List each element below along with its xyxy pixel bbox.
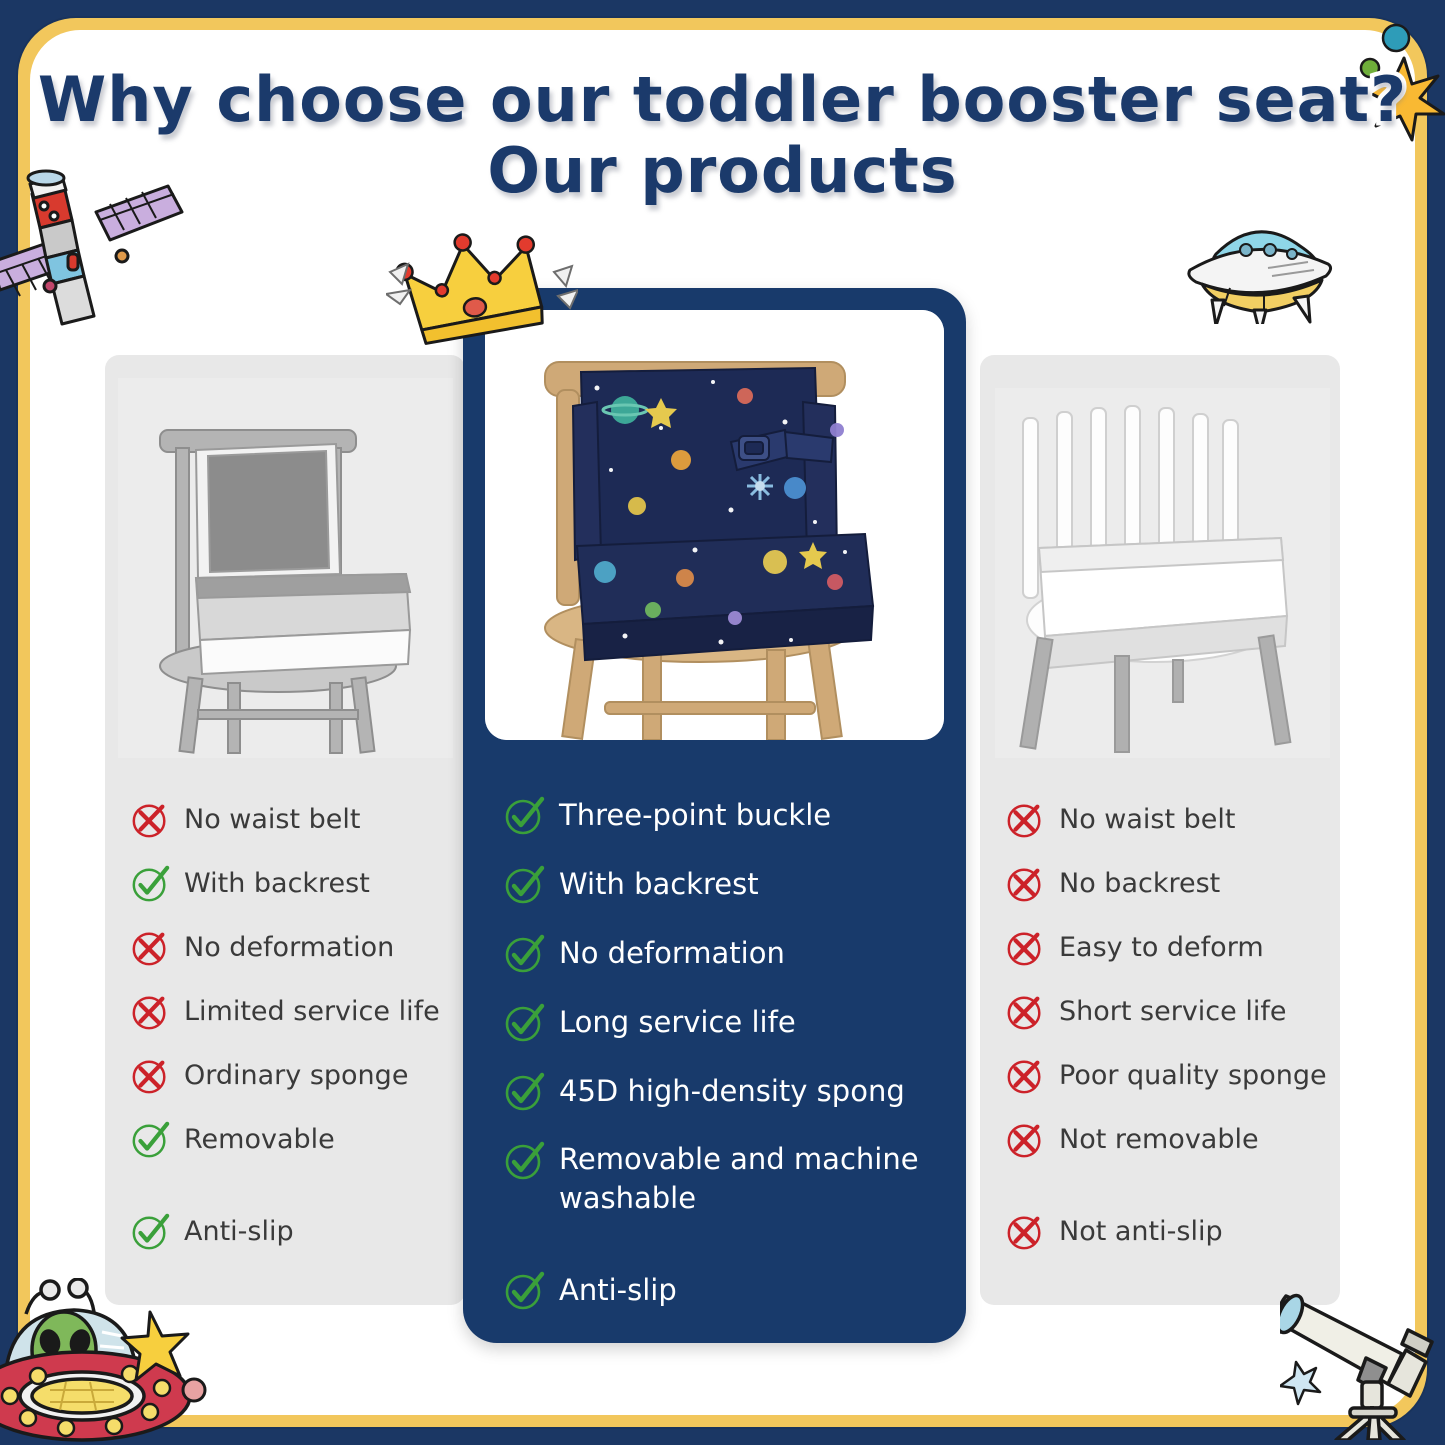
check-icon-wrap <box>130 1120 170 1160</box>
competitor-right-product-image <box>995 388 1330 758</box>
check-icon-wrap <box>503 1140 545 1182</box>
feature-row: Poor quality sponge <box>1005 1056 1355 1096</box>
feature-row: Three-point buckle <box>503 795 943 837</box>
cross-icon <box>1005 864 1045 904</box>
cross-icon-wrap <box>1005 992 1045 1032</box>
feature-row: Anti-slip <box>130 1212 475 1252</box>
check-icon <box>503 795 545 837</box>
cross-icon-wrap <box>1005 800 1045 840</box>
feature-row: 45D high-density spong <box>503 1071 943 1113</box>
feature-list-right: No waist beltNo backrestEasy to deformSh… <box>1005 800 1355 1276</box>
feature-label: With backrest <box>184 864 370 904</box>
cross-icon <box>130 928 170 968</box>
check-icon-wrap <box>503 864 545 906</box>
title-line-1: Why choose our toddler booster seat? <box>0 68 1445 131</box>
title-line-2: Our products <box>0 139 1445 202</box>
feature-label: Removable and machine washable <box>559 1140 919 1218</box>
feature-label: Short service life <box>1059 992 1286 1032</box>
feature-label: 45D high-density spong <box>559 1071 905 1111</box>
feature-label: Three-point buckle <box>559 795 831 835</box>
poster-root: Why choose our toddler booster seat? Our… <box>0 0 1445 1445</box>
page-title: Why choose our toddler booster seat? Our… <box>0 68 1445 202</box>
feature-label: Anti-slip <box>559 1270 677 1310</box>
cross-icon <box>1005 800 1045 840</box>
feature-row: Ordinary sponge <box>130 1056 475 1096</box>
feature-label: Long service life <box>559 1002 796 1042</box>
feature-label: Limited service life <box>184 992 440 1032</box>
feature-row: Removable and machine washable <box>503 1140 943 1218</box>
cross-icon-wrap <box>1005 864 1045 904</box>
cross-icon-wrap <box>1005 1212 1045 1252</box>
feature-row: No waist belt <box>1005 800 1355 840</box>
cross-icon-wrap <box>130 928 170 968</box>
feature-list-left: No waist beltWith backrestNo deformation… <box>130 800 475 1276</box>
feature-row: Not removable <box>1005 1120 1355 1160</box>
feature-label: No waist belt <box>184 800 361 840</box>
cross-icon-wrap <box>130 1056 170 1096</box>
booster-seat-illustration <box>485 310 944 740</box>
feature-label: Easy to deform <box>1059 928 1264 968</box>
feature-row: With backrest <box>503 864 943 906</box>
cross-icon-wrap <box>1005 928 1045 968</box>
feature-label: Poor quality sponge <box>1059 1056 1327 1096</box>
check-icon <box>503 1140 545 1182</box>
our-product-photo <box>485 310 944 740</box>
competitor-left-product-image <box>118 378 453 758</box>
alien-ship-icon <box>0 1278 220 1445</box>
feature-row: Anti-slip <box>503 1270 943 1312</box>
feature-label: Anti-slip <box>184 1212 294 1252</box>
cross-icon <box>1005 1212 1045 1252</box>
feature-row: No deformation <box>130 928 475 968</box>
feature-label: No backrest <box>1059 864 1220 904</box>
cross-icon-wrap <box>1005 1056 1045 1096</box>
cross-icon <box>1005 1056 1045 1096</box>
feature-row: Short service life <box>1005 992 1355 1032</box>
check-icon-wrap <box>503 1002 545 1044</box>
cross-icon-wrap <box>130 800 170 840</box>
feature-row: Easy to deform <box>1005 928 1355 968</box>
cross-icon <box>1005 928 1045 968</box>
feature-label: Not anti-slip <box>1059 1212 1223 1252</box>
feature-row: Long service life <box>503 1002 943 1044</box>
feature-label: Removable <box>184 1120 335 1160</box>
feature-label: With backrest <box>559 864 759 904</box>
feature-label: No deformation <box>559 933 785 973</box>
check-icon <box>503 1002 545 1044</box>
crown-icon <box>386 228 578 346</box>
check-icon-wrap <box>503 1071 545 1113</box>
check-icon-wrap <box>503 795 545 837</box>
check-icon <box>130 1212 170 1252</box>
feature-row: Not anti-slip <box>1005 1212 1355 1252</box>
feature-list-center: Three-point buckleWith backrestNo deform… <box>503 795 943 1339</box>
cross-icon <box>1005 1120 1045 1160</box>
telescope-icon <box>1280 1258 1445 1440</box>
feature-label: Ordinary sponge <box>184 1056 408 1096</box>
check-icon-wrap <box>503 1270 545 1312</box>
cross-icon-wrap <box>1005 1120 1045 1160</box>
feature-label: Not removable <box>1059 1120 1259 1160</box>
check-icon-wrap <box>503 933 545 975</box>
check-icon-wrap <box>130 1212 170 1252</box>
feature-label: No waist belt <box>1059 800 1236 840</box>
cross-icon <box>130 1056 170 1096</box>
check-icon <box>503 933 545 975</box>
check-icon <box>503 864 545 906</box>
check-icon <box>503 1071 545 1113</box>
feature-row: No waist belt <box>130 800 475 840</box>
feature-row: No deformation <box>503 933 943 975</box>
check-icon-wrap <box>130 864 170 904</box>
feature-row: Limited service life <box>130 992 475 1032</box>
cross-icon <box>130 992 170 1032</box>
feature-row: With backrest <box>130 864 475 904</box>
feature-row: No backrest <box>1005 864 1355 904</box>
ufo-icon <box>1168 206 1346 324</box>
check-icon <box>130 1120 170 1160</box>
cross-icon <box>1005 992 1045 1032</box>
cross-icon-wrap <box>130 992 170 1032</box>
feature-row: Removable <box>130 1120 475 1160</box>
feature-label: No deformation <box>184 928 394 968</box>
cross-icon <box>130 800 170 840</box>
check-icon <box>503 1270 545 1312</box>
check-icon <box>130 864 170 904</box>
